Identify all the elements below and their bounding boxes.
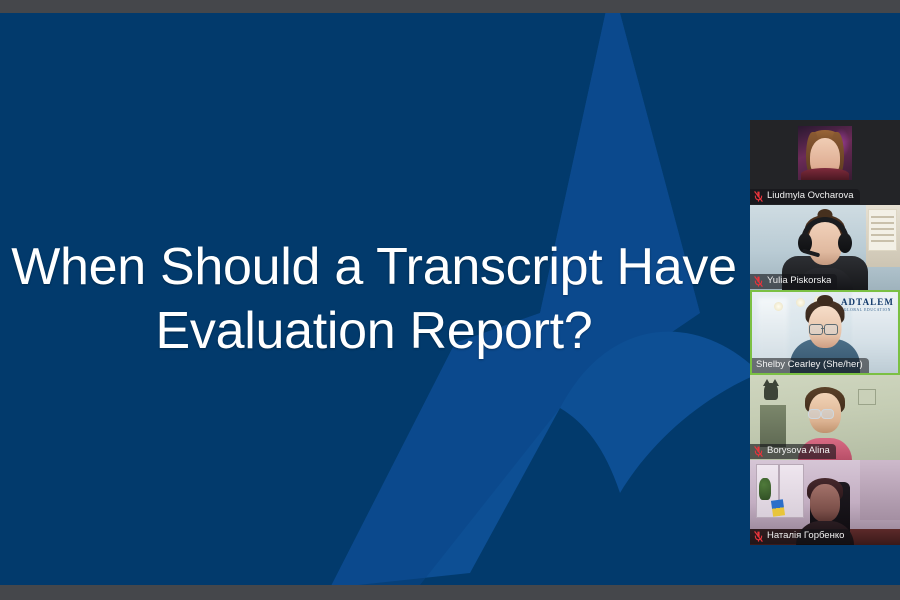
letterbox-bar-top bbox=[0, 0, 900, 13]
participant-tile-shelby-cearley[interactable]: ADTALEM GLOBAL EDUCATION Shelby Cearley … bbox=[750, 290, 900, 375]
participant-tile-borysova-alina[interactable]: Borysova Alina bbox=[750, 375, 900, 460]
avatar bbox=[798, 126, 852, 180]
participant-name-label: Наталія Горбенко bbox=[750, 529, 850, 544]
participant-name-label: Liudmyla Ovcharova bbox=[750, 189, 860, 204]
screen-share-view: When Should a Transcript Have Evaluation… bbox=[0, 0, 900, 600]
participant-tile-nataliia-horbenko[interactable]: Наталія Горбенко bbox=[750, 460, 900, 545]
title-line-2: Evaluation Report? bbox=[0, 299, 748, 363]
participant-tile-yulia-piskorska[interactable]: Yulia Piskorska bbox=[750, 205, 900, 290]
participant-name: Borysova Alina bbox=[767, 445, 830, 457]
participant-tile-liudmyla-ovcharova[interactable]: Liudmyla Ovcharova bbox=[750, 120, 900, 205]
participant-name: Yulia Piskorska bbox=[767, 275, 831, 287]
participant-name: Shelby Cearley (She/her) bbox=[756, 359, 863, 371]
muted-microphone-icon bbox=[754, 531, 763, 542]
participant-filmstrip[interactable]: Liudmyla Ovcharova bbox=[750, 120, 900, 545]
participant-name: Liudmyla Ovcharova bbox=[767, 190, 854, 202]
adtalem-logo-wordmark: ADTALEM bbox=[841, 297, 894, 307]
participant-name: Наталія Горбенко bbox=[767, 530, 844, 542]
adtalem-logo: ADTALEM GLOBAL EDUCATION bbox=[841, 297, 894, 313]
participant-name-label: Shelby Cearley (She/her) bbox=[752, 358, 869, 373]
muted-microphone-icon bbox=[754, 446, 763, 457]
participant-name-label: Yulia Piskorska bbox=[750, 274, 837, 289]
letterbox-bar-bottom bbox=[0, 585, 900, 600]
adtalem-logo-tagline: GLOBAL EDUCATION bbox=[841, 307, 894, 313]
participant-name-label: Borysova Alina bbox=[750, 444, 836, 459]
muted-microphone-icon bbox=[754, 191, 763, 202]
slide-title: When Should a Transcript Have Evaluation… bbox=[0, 235, 748, 363]
presentation-slide: When Should a Transcript Have Evaluation… bbox=[0, 13, 900, 585]
title-line-1: When Should a Transcript Have bbox=[0, 235, 748, 299]
muted-microphone-icon bbox=[754, 276, 763, 287]
